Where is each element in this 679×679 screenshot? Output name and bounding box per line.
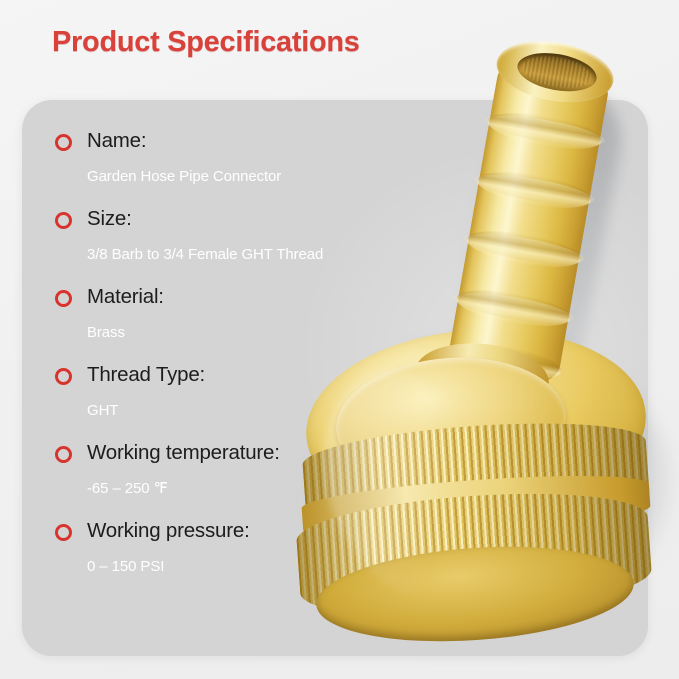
spec-item-size: Size: 3/8 Barb to 3/4 Female GHT Thread (55, 206, 415, 265)
spec-value: -65 – 250 ℉ (87, 479, 415, 499)
page-title: Product Specifications (52, 26, 360, 59)
spec-value: Garden Hose Pipe Connector (87, 167, 415, 187)
specifications-panel: Name: Garden Hose Pipe Connector Size: 3… (22, 100, 648, 656)
spec-item-working-pressure: Working pressure: 0 – 150 PSI (55, 518, 415, 577)
spec-label: Size: (87, 206, 415, 232)
spec-label: Material: (87, 284, 415, 310)
spec-value: 0 – 150 PSI (87, 557, 415, 577)
specifications-list: Name: Garden Hose Pipe Connector Size: 3… (55, 128, 415, 577)
spec-item-thread-type: Thread Type: GHT (55, 362, 415, 421)
spec-label: Working pressure: (87, 518, 415, 544)
barb-bore (514, 47, 599, 96)
product-spec-page: Product Specifications Name: Garden Hose… (0, 0, 679, 679)
spec-item-name: Name: Garden Hose Pipe Connector (55, 128, 415, 187)
spec-value: 3/8 Barb to 3/4 Female GHT Thread (87, 245, 415, 265)
ring-bullet-icon (55, 290, 72, 307)
spec-item-working-temperature: Working temperature: -65 – 250 ℉ (55, 440, 415, 499)
ring-bullet-icon (55, 446, 72, 463)
ring-bullet-icon (55, 212, 72, 229)
barb-rim (492, 33, 618, 111)
spec-label: Thread Type: (87, 362, 415, 388)
spec-label: Working temperature: (87, 440, 415, 466)
spec-value: Brass (87, 323, 415, 343)
ring-bullet-icon (55, 368, 72, 385)
ring-bullet-icon (55, 524, 72, 541)
ring-bullet-icon (55, 134, 72, 151)
spec-value: GHT (87, 401, 415, 421)
spec-item-material: Material: Brass (55, 284, 415, 343)
spec-label: Name: (87, 128, 415, 154)
